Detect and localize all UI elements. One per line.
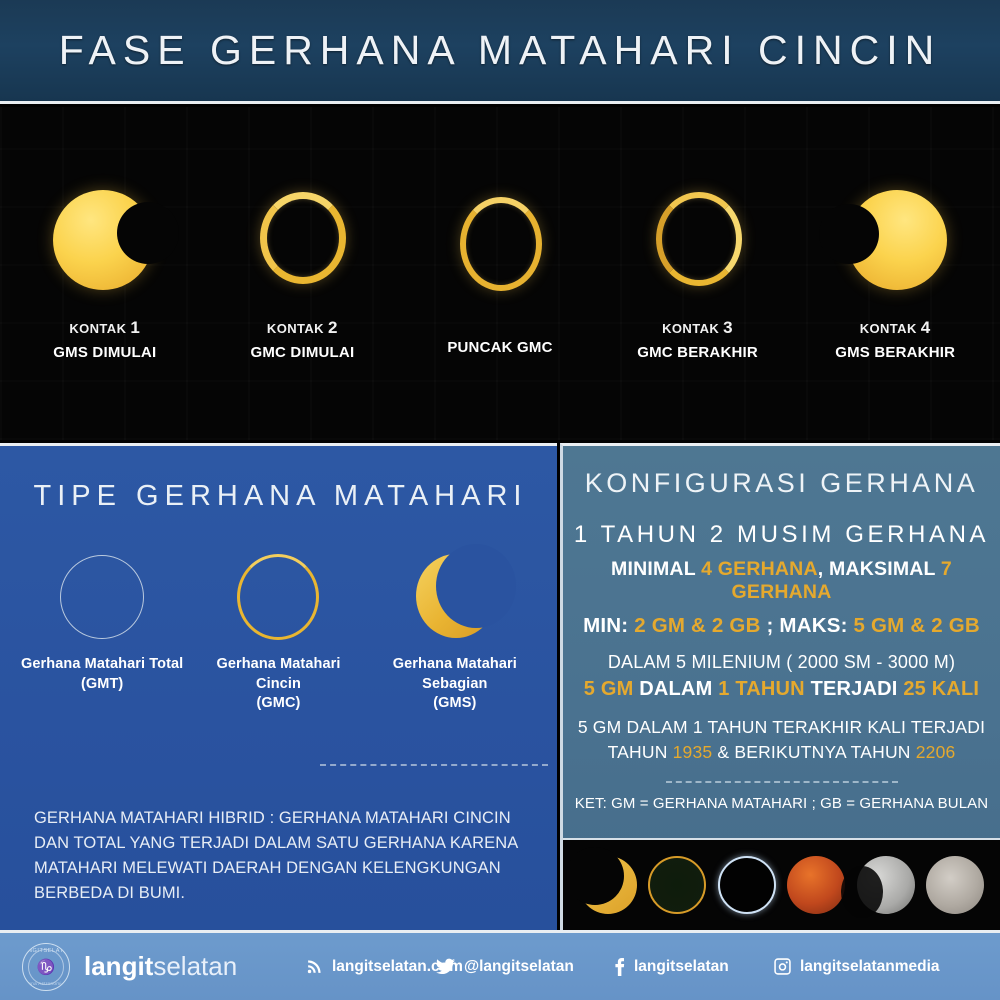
phase-art-annular-start (248, 186, 356, 294)
phase-contact-label: KONTAK 3 (662, 316, 733, 341)
frequency-conn2: TERJADI (805, 678, 903, 700)
frequency-period: 1 TAHUN (718, 678, 805, 700)
brand-name-light: selatan (153, 951, 237, 981)
history-middle: & BERIKUTNYA TAHUN (712, 742, 915, 762)
annular-ring-icon (260, 192, 346, 284)
history-line: 5 GM DALAM 1 TAHUN TERAKHIR KALI TERJADI… (563, 715, 1000, 765)
eclipse-phases-section: KONTAK 1 GMS DIMULAI KONTAK 2 GMC DIMULA… (0, 107, 1000, 440)
type-name: Gerhana Matahari Total (21, 656, 183, 672)
phase-art-annular-peak (446, 191, 554, 299)
twitter-icon (436, 958, 455, 975)
partial-eclipse-icon (412, 552, 498, 642)
minmax-min-value: 4 GERHANA (701, 558, 818, 580)
infographic-root: FASE GERHANA MATAHARI CINCIN KONTAK 1 GM… (0, 0, 1000, 1000)
type-label-partial: Gerhana Matahari Sebagian (GMS) (370, 655, 540, 714)
seal-top-text: LANGITSELATAN (22, 948, 70, 954)
history-year-last: 1935 (673, 742, 713, 762)
social-link-website[interactable]: langitselatan.com (306, 958, 436, 976)
phase-contact-number: 3 (723, 318, 733, 337)
sagittarius-icon: ♑ (37, 958, 56, 976)
minmax-prefix: MINIMAL (611, 558, 701, 580)
thumbnail-dark-annular-ring (648, 856, 706, 914)
social-links-row: langitselatan.com @langitselatan langits… (300, 958, 1000, 976)
phase-caption: GMS DIMULAI (53, 344, 156, 361)
phase-caption: GMS BERAKHIR (835, 344, 955, 361)
thumbnail-partial-lunar-eclipse (857, 856, 915, 914)
minmax-line: MINIMAL 4 GERHANA, MAKSIMAL 7 GERHANA (563, 558, 1000, 604)
frequency-line: 5 GM DALAM 1 TAHUN TERJADI 25 KALI (563, 678, 1000, 701)
type-item-annular: Gerhana Matahari Cincin (GMC) (193, 549, 363, 714)
thumbnail-full-moon (926, 856, 984, 914)
phase-item-puncak: PUNCAK GMC (405, 191, 595, 356)
type-art-total (17, 549, 187, 645)
seal-bottom-text: Pesona Astronomi Kita (22, 981, 70, 986)
thumbnail-annular-crescent-sun (579, 856, 637, 914)
frequency-occurrences: 25 KALI (903, 678, 979, 700)
page-header: FASE GERHANA MATAHARI CINCIN (0, 0, 1000, 104)
phase-contact-word: KONTAK (69, 321, 126, 336)
phase-item-kontak-3: KONTAK 3 GMC BERAKHIR (603, 186, 793, 361)
detail-separator: ; MAKS: (761, 614, 854, 637)
phase-contact-word: KONTAK (662, 321, 719, 336)
legend-line: KET: GM = GERHANA MATAHARI ; GB = GERHAN… (563, 795, 1000, 812)
rss-icon (306, 958, 323, 975)
phase-contact-word: KONTAK (860, 321, 917, 336)
partial-sun-icon (847, 190, 947, 290)
facebook-icon (614, 958, 625, 976)
configuration-title: KONFIGURASI GERHANA (563, 468, 1000, 499)
social-label-twitter: @langitselatan (464, 958, 574, 976)
phase-item-kontak-1: KONTAK 1 GMS DIMULAI (10, 186, 200, 361)
phase-contact-label: KONTAK 1 (69, 316, 140, 341)
eclipse-types-row: Gerhana Matahari Total (GMT) Gerhana Mat… (0, 549, 557, 714)
page-footer: LANGITSELATAN ♑ Pesona Astronomi Kita la… (0, 930, 1000, 1000)
phase-caption: GMC DIMULAI (250, 344, 354, 361)
millennium-line: DALAM 5 MILENIUM ( 2000 SM - 3000 M) (563, 652, 1000, 673)
social-label-instagram: langitselatanmedia (800, 958, 940, 976)
minmax-detail-line: MIN: 2 GM & 2 GB ; MAKS: 5 GM & 2 GB (563, 614, 1000, 638)
phase-item-kontak-2: KONTAK 2 GMC DIMULAI (207, 186, 397, 361)
crescent-shadow (566, 847, 624, 905)
detail-min-label: MIN: (583, 614, 634, 637)
total-eclipse-icon (60, 555, 144, 639)
left-panel-divider (320, 764, 548, 766)
phase-contact-label: KONTAK 2 (267, 316, 338, 341)
phase-item-kontak-4: KONTAK 4 GMS BERAKHIR (800, 186, 990, 361)
right-panel-divider (666, 781, 898, 783)
annular-eclipse-icon (237, 554, 319, 640)
minmax-middle: , MAKSIMAL (818, 558, 941, 580)
phase-caption: PUNCAK GMC (447, 339, 552, 356)
annular-ring-icon (460, 197, 542, 291)
phase-art-partial-sun-right (51, 186, 159, 294)
type-name: Gerhana Matahari Sebagian (393, 656, 517, 692)
season-line: 1 TAHUN 2 MUSIM GERHANA (563, 521, 1000, 549)
social-link-twitter[interactable]: @langitselatan (436, 958, 614, 976)
annular-ring-icon (656, 192, 742, 286)
brand-name: langitselatan (84, 951, 237, 982)
phase-caption: GMC BERAKHIR (637, 344, 758, 361)
type-label-annular: Gerhana Matahari Cincin (GMC) (193, 655, 363, 714)
phase-art-annular-end (644, 186, 752, 294)
phase-contact-label: KONTAK 4 (860, 316, 931, 341)
page-title: FASE GERHANA MATAHARI CINCIN (59, 27, 941, 74)
type-item-total: Gerhana Matahari Total (GMT) (17, 549, 187, 694)
phase-contact-number: 4 (921, 318, 931, 337)
type-label-total: Gerhana Matahari Total (GMT) (17, 655, 187, 694)
detail-min-value: 2 GM & 2 GB (634, 614, 760, 637)
thumbnail-total-solar-corona (718, 856, 776, 914)
history-year-next: 2206 (916, 742, 956, 762)
type-art-partial (370, 549, 540, 645)
thumbnail-blood-moon (787, 856, 845, 914)
type-name: Gerhana Matahari Cincin (216, 656, 340, 692)
eclipse-configuration-panel: KONFIGURASI GERHANA 1 TAHUN 2 MUSIM GERH… (560, 443, 1000, 930)
brand-block[interactable]: LANGITSELATAN ♑ Pesona Astronomi Kita la… (0, 943, 300, 991)
social-link-instagram[interactable]: langitselatanmedia (774, 958, 974, 976)
phase-row: KONTAK 1 GMS DIMULAI KONTAK 2 GMC DIMULA… (0, 107, 1000, 440)
eclipse-types-title: TIPE GERHANA MATAHARI (4, 480, 557, 513)
crescent-mask (436, 544, 516, 628)
frequency-conn1: DALAM (634, 678, 719, 700)
frequency-count: 5 GM (584, 678, 634, 700)
brand-name-bold: langit (84, 951, 153, 981)
social-link-facebook[interactable]: langitselatan (614, 958, 774, 976)
partial-sun-icon (53, 190, 153, 290)
type-abbr: (GMT) (81, 676, 123, 692)
phase-contact-number: 1 (130, 318, 140, 337)
detail-max-value: 5 GM & 2 GB (854, 614, 980, 637)
phase-contact-word: KONTAK (267, 321, 324, 336)
phase-contact-number: 2 (328, 318, 338, 337)
type-art-annular (193, 549, 363, 645)
eclipse-thumbnail-strip (563, 838, 1000, 930)
hybrid-eclipse-note: GERHANA MATAHARI HIBRID : GERHANA MATAHA… (34, 806, 534, 906)
instagram-icon (774, 958, 791, 975)
type-item-partial: Gerhana Matahari Sebagian (GMS) (370, 549, 540, 714)
social-label-facebook: langitselatan (634, 958, 729, 976)
type-abbr: (GMS) (433, 695, 476, 711)
phase-art-partial-sun-left (841, 186, 949, 294)
type-abbr: (GMC) (256, 695, 300, 711)
langitselatan-seal-logo: LANGITSELATAN ♑ Pesona Astronomi Kita (22, 943, 70, 991)
